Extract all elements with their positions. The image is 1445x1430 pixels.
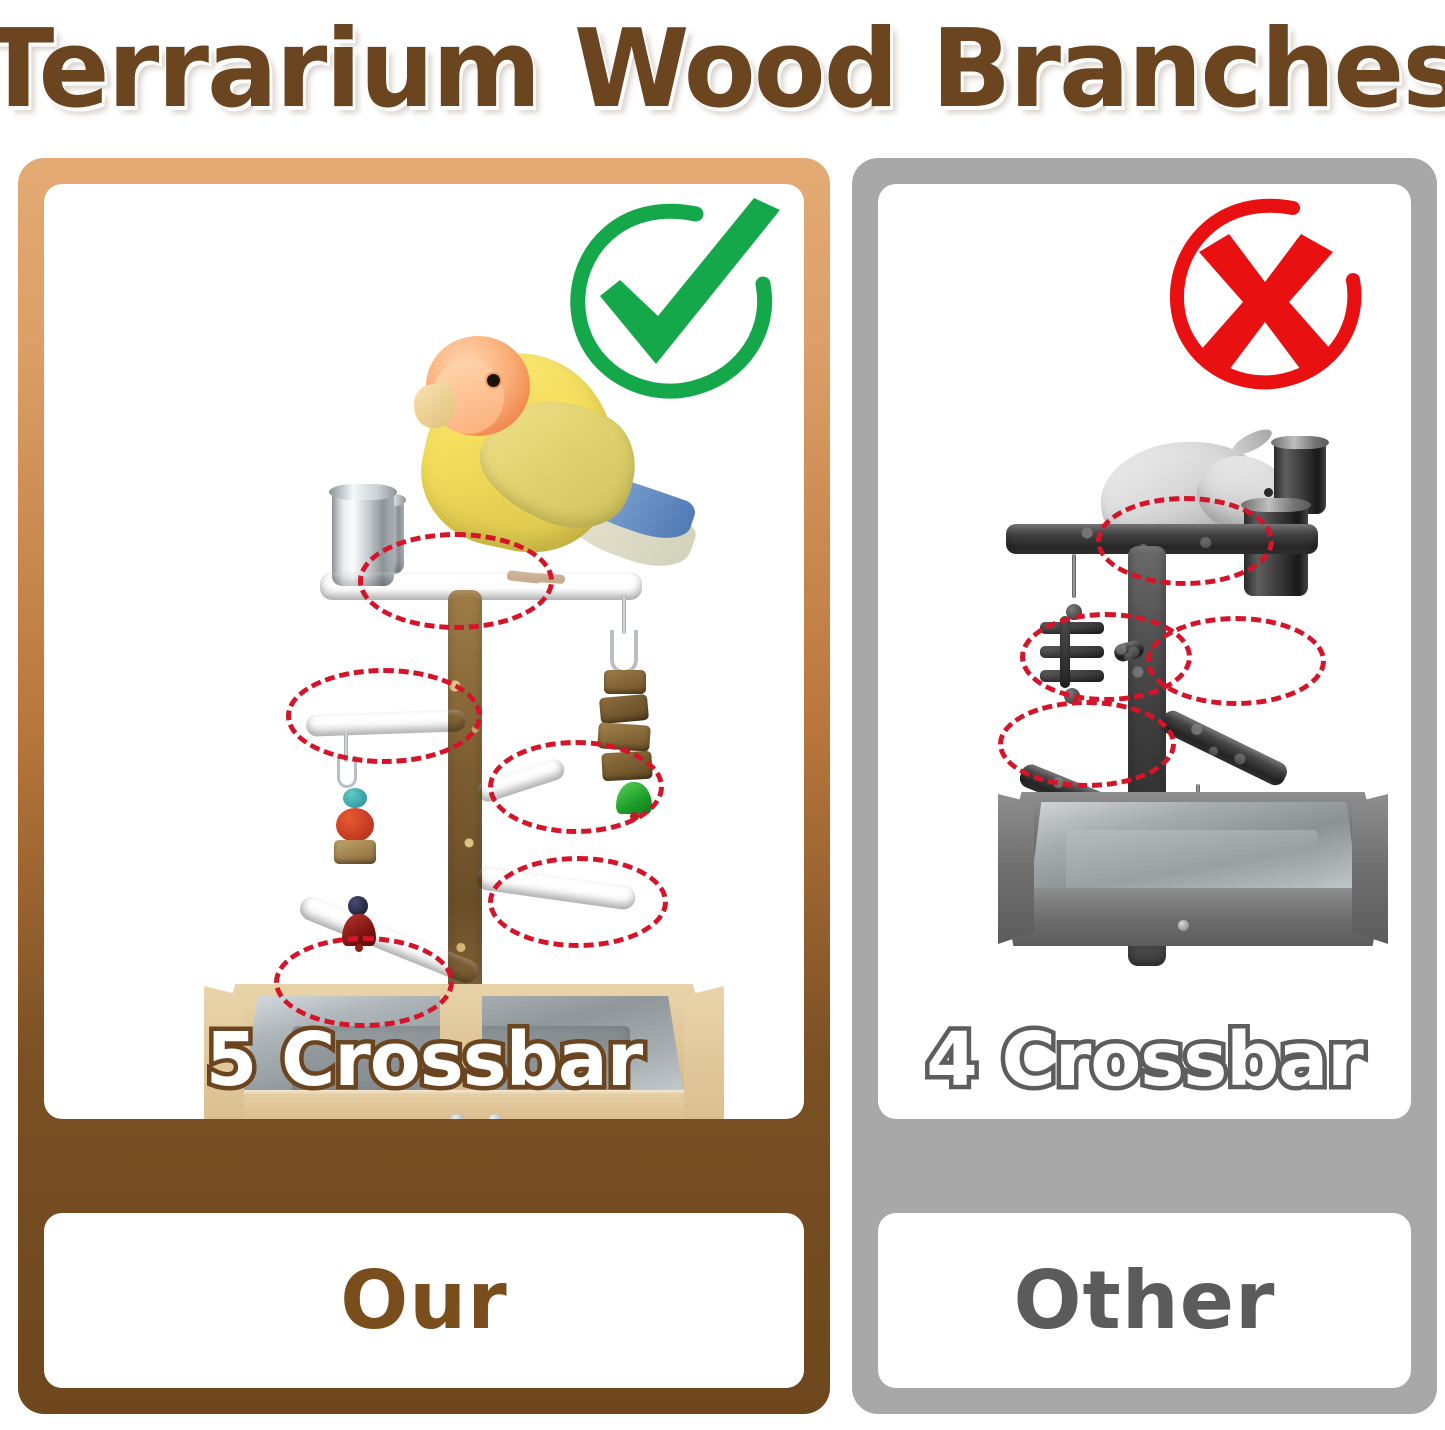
tray-wood-left <box>998 794 1034 944</box>
feeding-cup-lower-rim <box>1241 498 1311 512</box>
page-title-banner: Terrarium Wood Branches <box>0 0 1445 140</box>
toy-left-rattan-ball <box>334 862 376 898</box>
product-card-ours: 5 Crossbar <box>44 184 804 1119</box>
toy-ladder-rung <box>1040 670 1104 682</box>
toy-right-chain <box>622 594 626 634</box>
panel-spacer <box>44 1119 804 1213</box>
perch-crossbar-2 <box>1158 707 1291 788</box>
tray-steel-inner <box>1066 830 1318 898</box>
caption-ours: 5 Crossbar <box>44 1023 804 1097</box>
bird-eye-icon <box>1264 488 1273 497</box>
check-circle-icon <box>558 192 788 412</box>
perch-crossbar-4 <box>475 865 637 911</box>
tray-screw <box>1178 920 1189 931</box>
footer-label-ours: Our <box>340 1261 507 1341</box>
comparison-infographic: Terrarium Wood Branches <box>0 0 1445 1430</box>
toy-left-dark-bead <box>348 896 368 916</box>
toy-right-clip-icon <box>610 630 638 674</box>
perch-crossbar-3 <box>475 757 567 805</box>
toy-ladder-rung <box>1040 646 1104 658</box>
product-card-other: 4 Crossbar <box>878 184 1411 1119</box>
footer-label-other: Other <box>1014 1261 1276 1341</box>
toy-left-bell-clapper <box>355 944 363 952</box>
annotation-ellipse-2 <box>1146 616 1326 706</box>
toy-right-block <box>601 751 652 782</box>
bird-eye-icon <box>487 374 500 387</box>
toy-right-block <box>597 722 651 752</box>
toy-ladder-rail <box>1060 616 1070 688</box>
toy-left-wood-chunk <box>334 840 376 864</box>
panel-ours: 5 Crossbar Our <box>18 158 830 1414</box>
feeding-cup-upper-rim <box>1271 436 1329 449</box>
toy-ladder-bead <box>1064 688 1080 704</box>
toy-right-bell-clapper <box>630 812 639 821</box>
toy-right-green-bell <box>616 782 652 814</box>
toy-ladder-rung <box>1040 622 1104 634</box>
footer-card-ours: Our <box>44 1213 804 1388</box>
panel-spacer <box>878 1119 1411 1213</box>
tray-wood-right <box>1352 794 1388 944</box>
bird-crest <box>1229 425 1275 460</box>
cross-circle-icon <box>1161 194 1369 402</box>
perch-crossbar-2 <box>306 709 467 737</box>
toy-right-block <box>604 670 646 694</box>
feeding-cup-large-rim <box>329 484 397 500</box>
footer-card-other: Other <box>878 1213 1411 1388</box>
toy-left-red-ball <box>336 808 374 842</box>
toy-left-teal-bead <box>343 788 367 808</box>
panel-other: 4 Crossbar Other <box>852 158 1437 1414</box>
tray-wood-front <box>1002 888 1384 946</box>
toy-ladder-chain <box>1072 554 1076 598</box>
page-title: Terrarium Wood Branches <box>0 16 1445 124</box>
toy-left-clip-icon <box>337 756 357 788</box>
caption-other: 4 Crossbar <box>878 1023 1411 1097</box>
toy-right-block <box>599 694 649 724</box>
